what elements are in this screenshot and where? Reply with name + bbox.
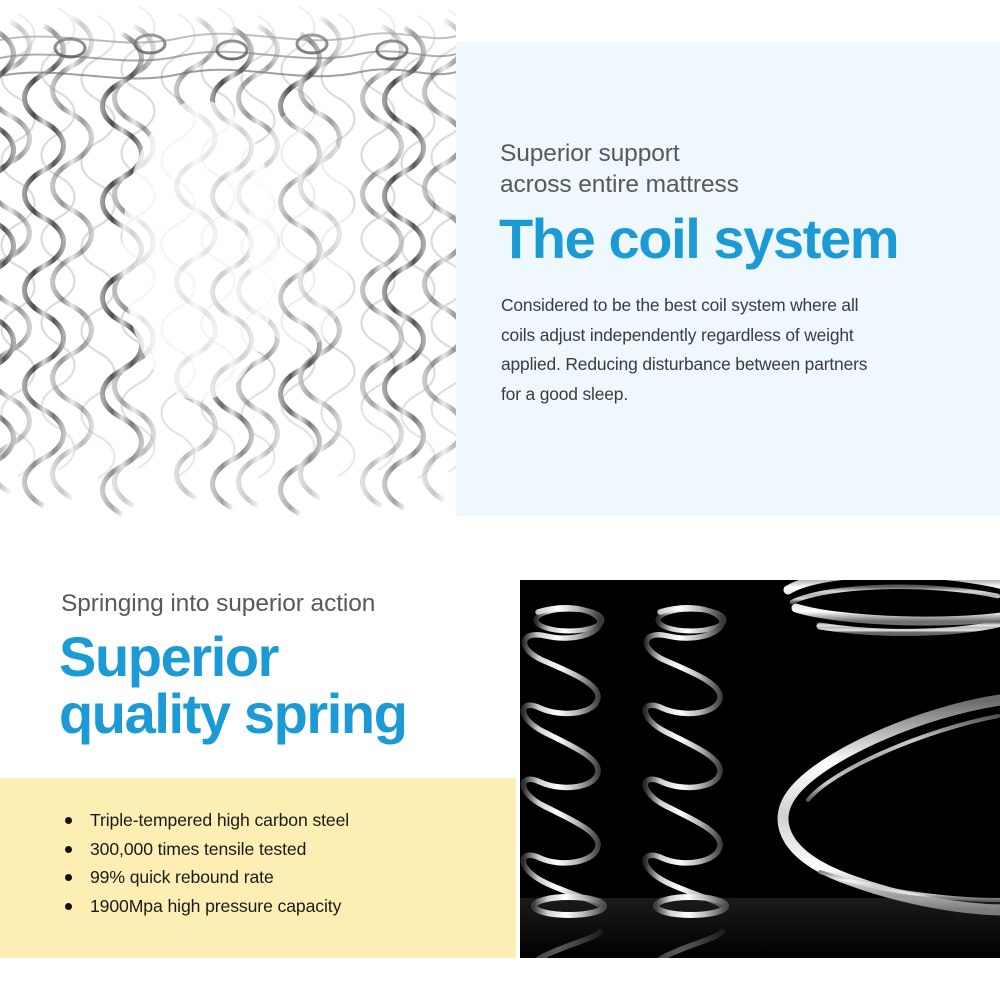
quality-spring-eyebrow: Springing into superior action (61, 588, 501, 619)
list-item: 1900Mpa high pressure capacity (62, 892, 482, 921)
body-line-1: Considered to be the best coil system wh… (501, 295, 858, 315)
chrome-springs-photo (520, 580, 1000, 958)
list-item: Triple-tempered high carbon steel (62, 806, 482, 835)
eyebrow-line-2: across entire mattress (500, 171, 739, 198)
coil-system-headline: The coil system (499, 210, 989, 268)
list-item: 99% quick rebound rate (62, 863, 482, 892)
chrome-springs-illustration (520, 580, 1000, 958)
coil-array-photo (0, 0, 456, 516)
eyebrow-line-1: Superior support (500, 140, 680, 167)
body-line-3: applied. Reducing disturbance between pa… (501, 354, 867, 374)
coil-system-panel: Superior support across entire mattress … (456, 42, 1000, 516)
product-feature-page: Superior support across entire mattress … (0, 0, 1000, 1000)
coil-system-body: Considered to be the best coil system wh… (501, 291, 921, 409)
headline-line-1: Superior (59, 625, 278, 688)
coil-array-illustration (0, 0, 456, 516)
quality-spring-headline: Superior quality spring (59, 628, 529, 742)
body-line-4: for a good sleep. (501, 384, 628, 404)
list-item: 300,000 times tensile tested (62, 835, 482, 864)
headline-line-2: quality spring (59, 682, 407, 745)
body-line-2: coils adjust independently regardless of… (501, 325, 854, 345)
coil-system-eyebrow: Superior support across entire mattress (500, 138, 970, 200)
feature-list: Triple-tempered high carbon steel 300,00… (62, 806, 482, 920)
